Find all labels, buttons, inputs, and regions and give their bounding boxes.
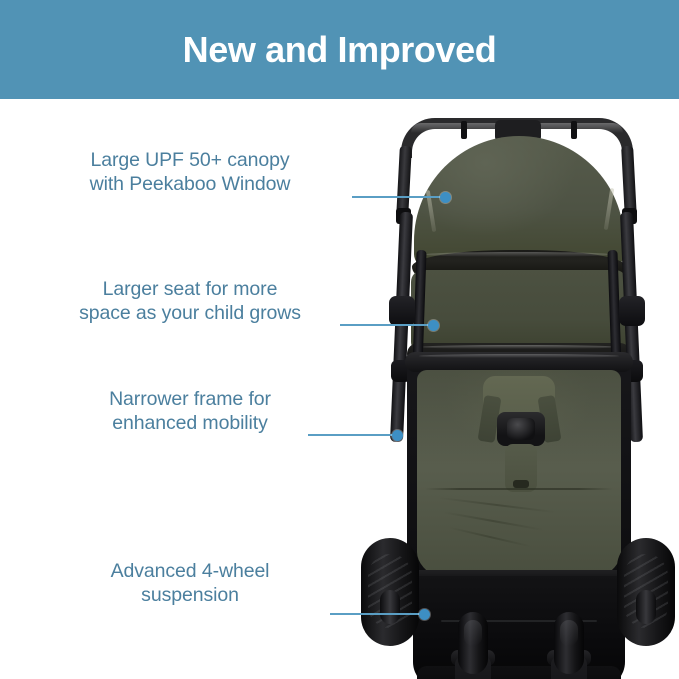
handlebar-ring-left [461,121,467,139]
frame-hinge-left [389,296,415,326]
page-title: New and Improved [183,32,497,68]
annotation-line: enhanced mobility [20,411,360,435]
annotation-line: Larger seat for more [20,277,360,301]
annotation-line: Large UPF 50+ canopy [20,148,360,172]
infographic-canvas: New and Improved [0,0,679,679]
connector-line-suspension [330,613,422,615]
annotation-label-suspension: Advanced 4-wheel suspension [20,559,360,607]
front-wheel-highlight-left [464,620,482,646]
harness-buckle-core [507,418,535,440]
canopy-rim-highlight [421,345,617,349]
annotation-line: suspension [20,583,360,607]
canopy-lower-panel [411,270,627,352]
stroller-illustration [355,100,679,679]
annotation-label-seat: Larger seat for more space as your child… [20,277,360,325]
crotch-strap-slot [513,480,529,488]
annotation-label-frame: Narrower frame for enhanced mobility [20,387,360,435]
frame-hinge-right [619,296,645,326]
annotation-line: with Peekaboo Window [20,172,360,196]
connector-dot-seat [428,320,439,331]
seat-crease [425,488,613,490]
handlebar-ring-right [571,121,577,139]
storage-basket-bottom [417,666,621,679]
seat-top-bar-highlight [419,354,619,358]
connector-dot-frame [392,430,403,441]
annotation-line: space as your child grows [20,301,360,325]
connector-line-canopy [352,196,442,198]
connector-line-seat [340,324,430,326]
annotation-label-canopy: Large UPF 50+ canopy with Peekaboo Windo… [20,148,360,196]
annotation-line: Advanced 4-wheel [20,559,360,583]
connector-dot-suspension [419,609,430,620]
rear-wheel-hub-left [380,590,400,624]
storage-basket [413,576,625,679]
annotation-line: Narrower frame for [20,387,360,411]
connector-dot-canopy [440,192,451,203]
rear-wheel-hub-right [636,590,656,624]
header-band: New and Improved [0,0,679,99]
front-wheel-highlight-right [560,620,578,646]
canopy-seam-highlight [425,252,611,257]
connector-line-frame [308,434,394,436]
